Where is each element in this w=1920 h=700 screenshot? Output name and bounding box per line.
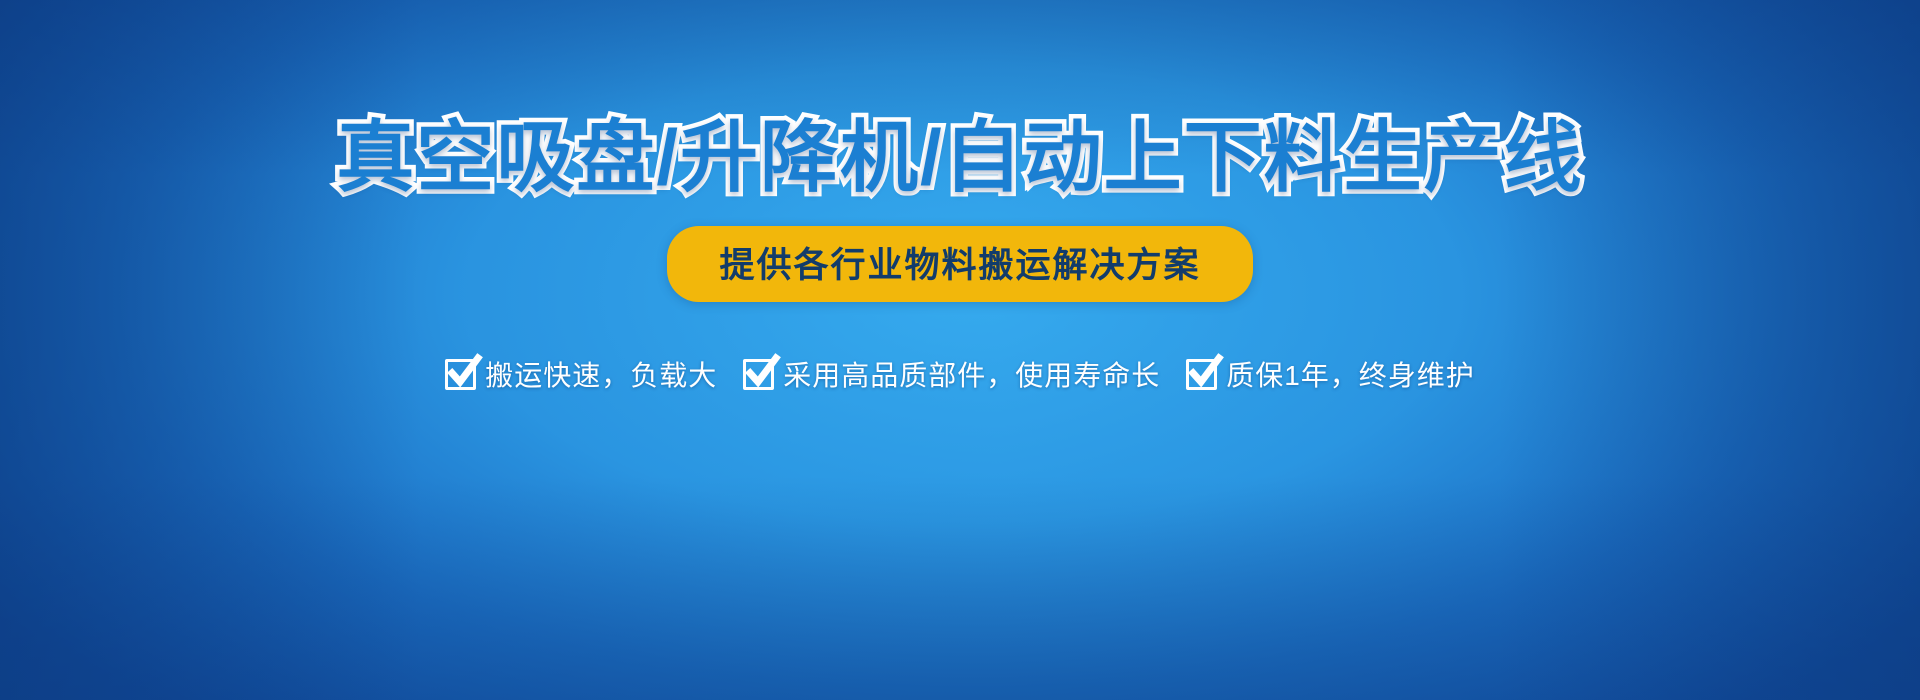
feature-item: 质保1年，终身维护 <box>1186 354 1475 394</box>
checkbox-check-icon <box>1186 359 1217 390</box>
hero-banner: BA06 真空吸盘/升降机/自动上下料生产线 提供各行业物料搬运解决方案 搬运快… <box>0 0 1920 700</box>
feature-list: 搬运快速，负载大 采用高品质部件，使用寿命长 质保1年，终身维护 <box>445 354 1475 394</box>
banner-subtitle-pill: 提供各行业物料搬运解决方案 <box>667 226 1252 302</box>
checkbox-check-icon <box>445 359 476 390</box>
feature-item: 采用高品质部件，使用寿命长 <box>743 354 1160 394</box>
banner-content: 真空吸盘/升降机/自动上下料生产线 提供各行业物料搬运解决方案 搬运快速，负载大… <box>0 0 1920 700</box>
checkbox-check-icon <box>743 359 774 390</box>
banner-headline: 真空吸盘/升降机/自动上下料生产线 <box>336 118 1583 196</box>
feature-item: 搬运快速，负载大 <box>445 354 717 394</box>
feature-label: 质保1年，终身维护 <box>1226 354 1475 394</box>
feature-label: 搬运快速，负载大 <box>485 354 717 394</box>
feature-label: 采用高品质部件，使用寿命长 <box>783 354 1160 394</box>
